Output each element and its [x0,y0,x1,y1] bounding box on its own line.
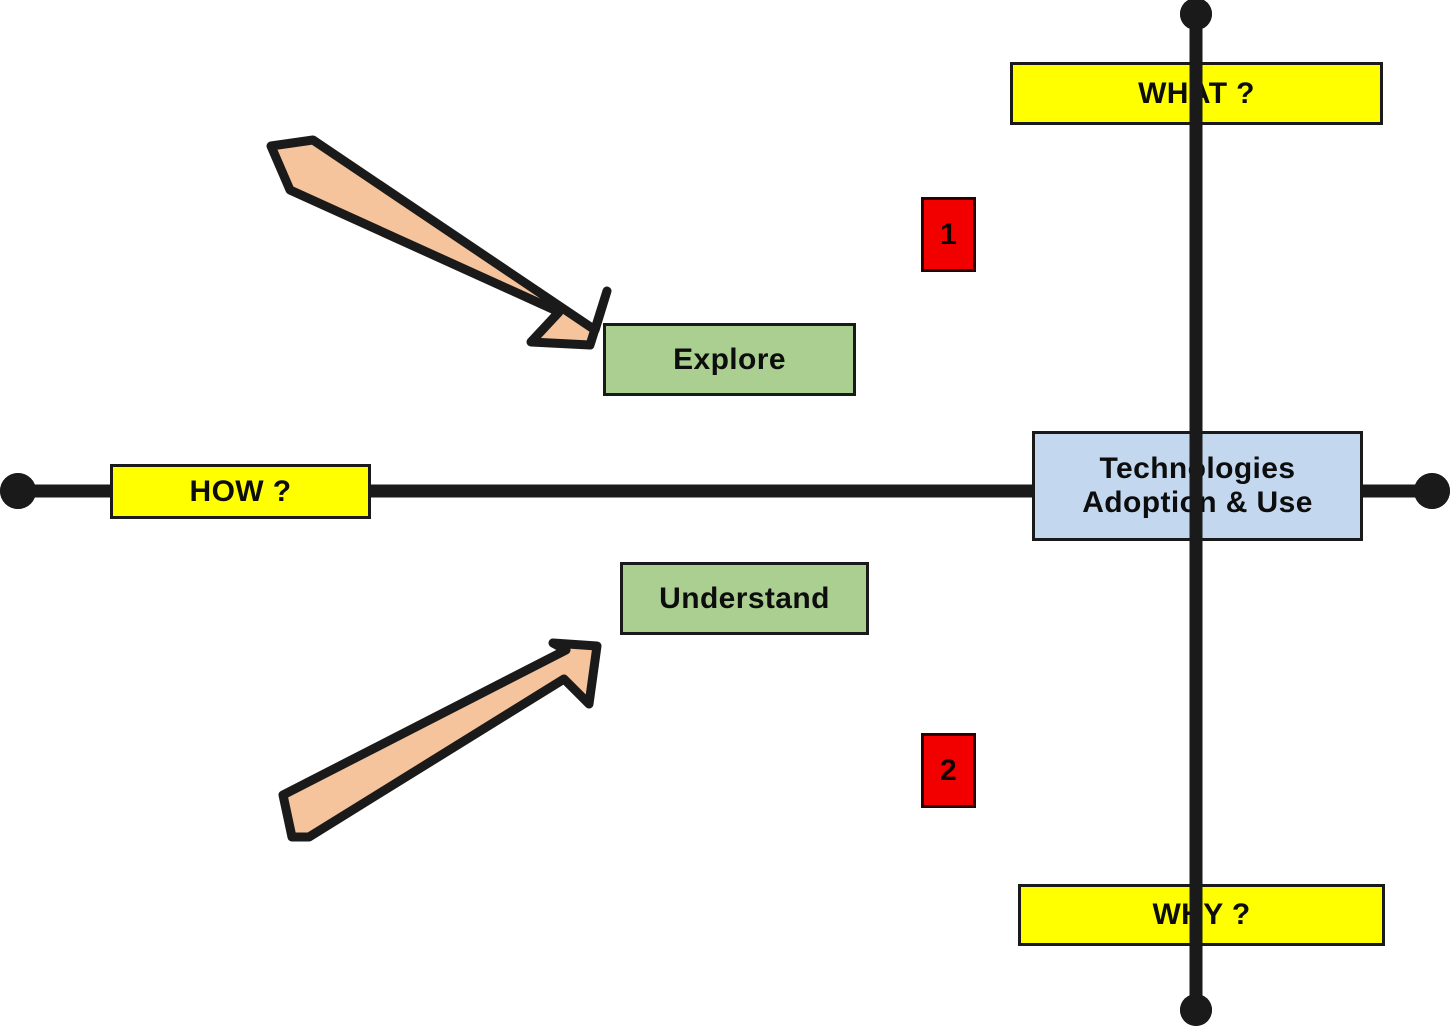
axis-label-why[interactable]: WHY ? [1018,884,1385,946]
phase-node-understand[interactable]: Understand [620,562,869,635]
axis-terminal-dot-bottom [1180,994,1212,1026]
core-node-technologies-adoption-use[interactable]: Technologies Adoption & Use [1032,431,1363,541]
arrow-to-understand-icon [283,643,597,837]
core-node-line-1: Technologies [1100,452,1296,486]
phase-node-understand-text: Understand [659,582,830,616]
core-node-line-2: Adoption & Use [1082,486,1313,520]
axis-label-what-text: WHAT ? [1138,77,1255,111]
marker-badge-2-text: 2 [940,754,957,788]
phase-node-explore-text: Explore [673,343,786,377]
phase-node-explore[interactable]: Explore [603,323,856,396]
marker-badge-1[interactable]: 1 [921,197,976,272]
marker-badge-2[interactable]: 2 [921,733,976,808]
axis-label-why-text: WHY ? [1152,898,1250,932]
axis-terminal-dot-top [1180,0,1212,30]
axis-terminal-dot-right [1414,473,1450,509]
axis-label-how-text: HOW ? [190,475,292,509]
axis-label-how[interactable]: HOW ? [110,464,371,519]
arrow-to-explore-icon [271,140,607,345]
axis-terminal-dot-left [0,473,36,509]
diagram-canvas: WHAT ? WHY ? HOW ? Technologies Adoption… [0,0,1450,1027]
axis-label-what[interactable]: WHAT ? [1010,62,1383,125]
marker-badge-1-text: 1 [940,218,957,252]
